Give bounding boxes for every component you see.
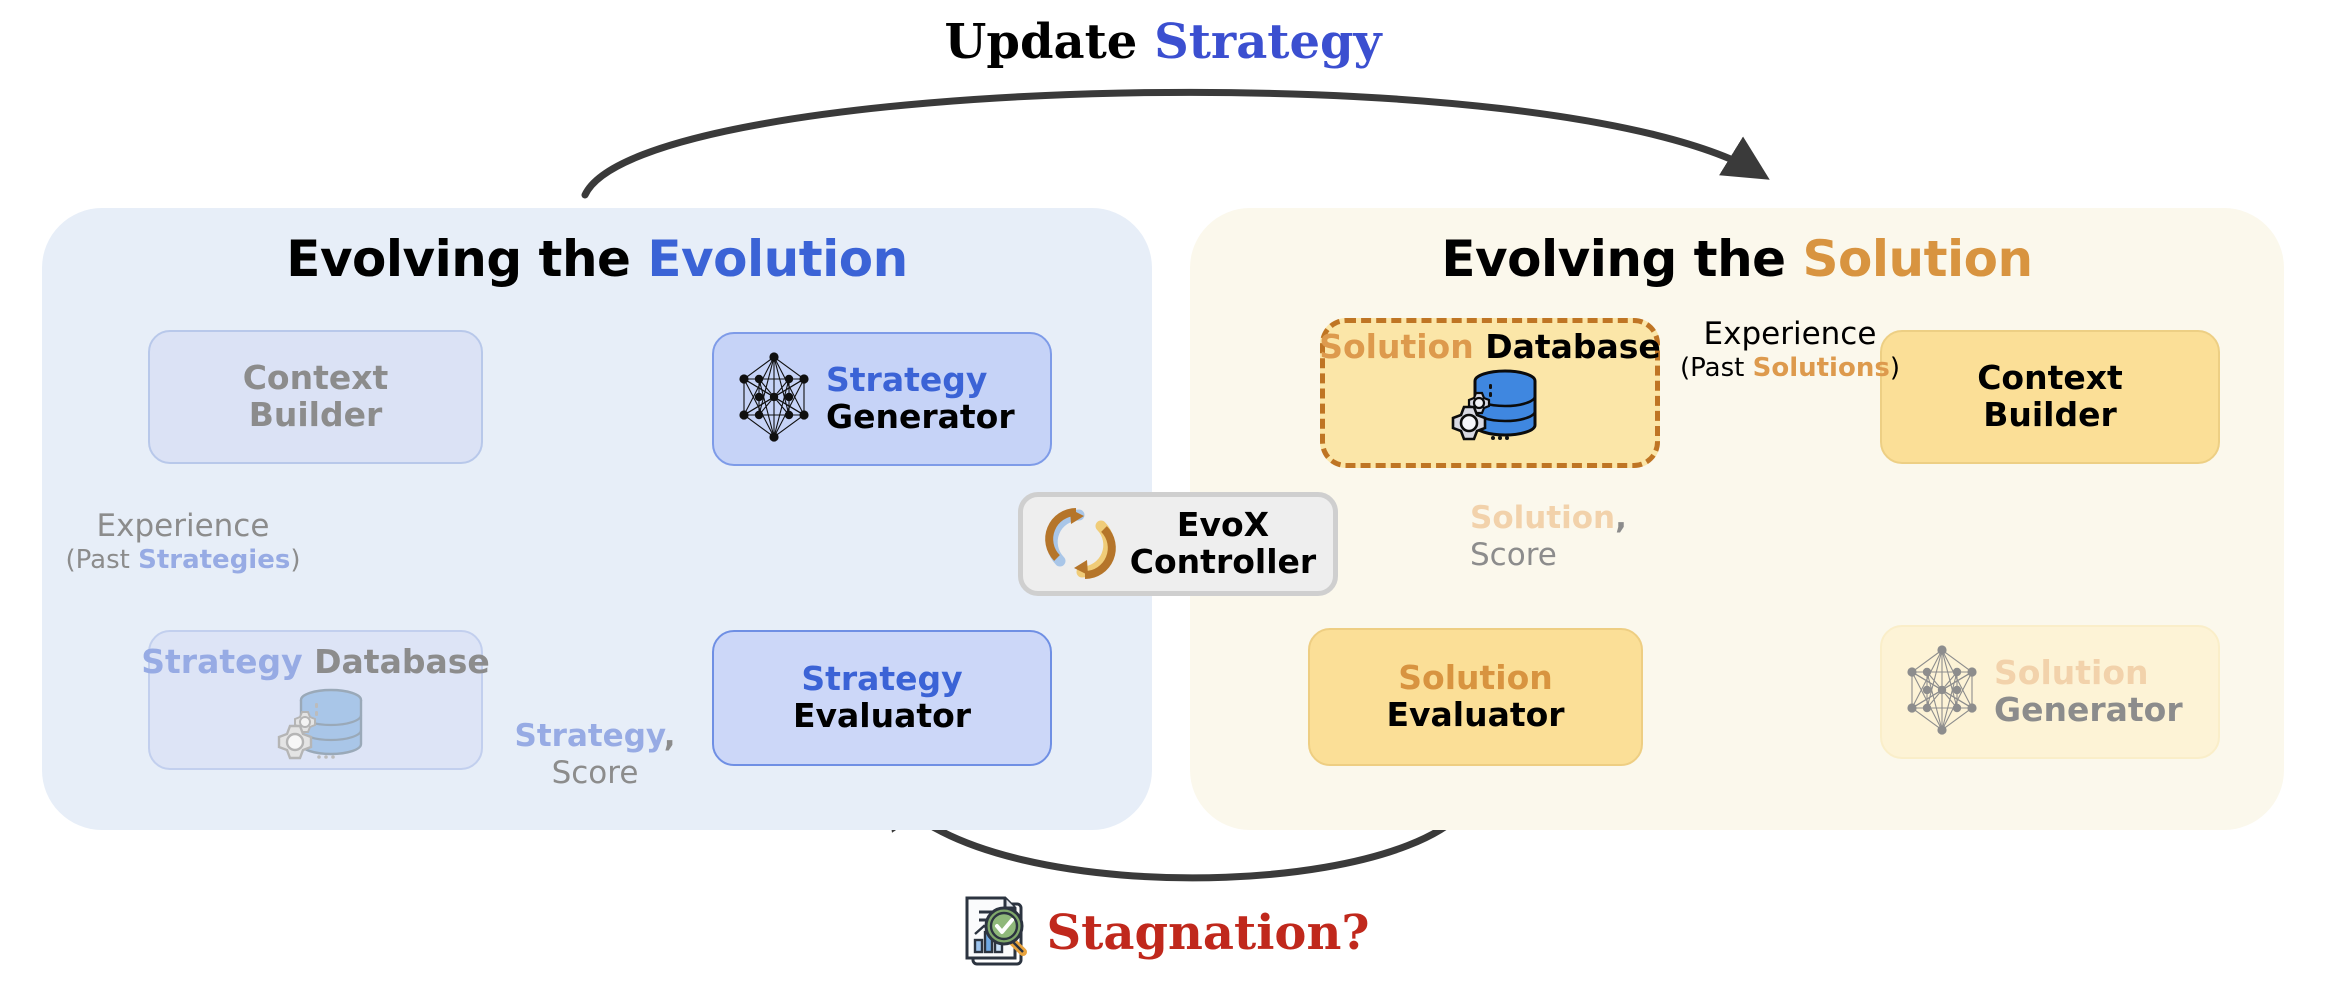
evox-line2: Controller xyxy=(1130,544,1316,581)
stratdb-word1: Strategy xyxy=(141,642,302,681)
node-strategy-evaluator[interactable]: Strategy Evaluator xyxy=(712,630,1052,766)
node-context-builder-left-label: Context Builder xyxy=(243,360,389,434)
strat-score-comma: , xyxy=(664,718,676,754)
solgen-line1: Solution xyxy=(1994,655,2183,692)
ctx-right-line2: Builder xyxy=(1977,397,2123,434)
cycle-refresh-icon xyxy=(1040,503,1118,585)
label-experience-right: Experience (Past Solutions) xyxy=(1660,316,1920,383)
update-strategy-prefix: Update xyxy=(945,14,1155,70)
sol-score-accent: Solution xyxy=(1470,500,1615,536)
node-context-builder-left[interactable]: Context Builder xyxy=(148,330,483,464)
diagram-canvas: Update Strategy Evolving the Evolution C… xyxy=(0,0,2326,996)
report-check-magnifier-icon xyxy=(957,890,1039,976)
strat-score-accent: Strategy xyxy=(515,718,664,754)
evox-controller-label: EvoX Controller xyxy=(1130,507,1316,581)
ctx-right-line1: Context xyxy=(1977,360,2123,397)
node-strategy-generator[interactable]: Strategy Generator xyxy=(712,332,1052,466)
sol-score-comma: , xyxy=(1615,500,1627,536)
strateval-line2: Evaluator xyxy=(793,698,971,735)
stagnation-label: Stagnation? xyxy=(1047,905,1370,961)
evox-controller[interactable]: EvoX Controller xyxy=(1018,492,1338,596)
solgen-line2: Generator xyxy=(1994,692,2183,729)
stratgen-line2: Generator xyxy=(826,399,1015,436)
label-strategy-score: Strategy, Score xyxy=(480,718,710,791)
update-strategy-accent: Strategy xyxy=(1154,14,1381,70)
database-gears-icon xyxy=(253,683,379,765)
stagnation-footer[interactable]: Stagnation? xyxy=(0,890,2326,976)
soleval-line2: Evaluator xyxy=(1386,697,1564,734)
strateval-line1: Strategy xyxy=(793,661,971,698)
soldb-word1: Solution xyxy=(1319,327,1474,366)
label-solution-score: Solution, Score xyxy=(1470,500,1700,573)
arrow-update-strategy xyxy=(585,92,1762,195)
exp-left-sub-prefix: (Past xyxy=(66,545,139,575)
node-context-builder-right[interactable]: Context Builder xyxy=(1880,330,2220,464)
exp-left-line1: Experience xyxy=(97,508,270,544)
exp-left-sub-accent: Strategies xyxy=(138,545,290,575)
node-solution-generator-label: Solution Generator xyxy=(1994,655,2183,729)
update-strategy-title: Update Strategy xyxy=(0,14,2326,70)
ctx-left-line2: Builder xyxy=(243,397,389,434)
panel-right-title-accent: Solution xyxy=(1802,230,2032,288)
label-experience-left: Experience (Past Strategies) xyxy=(18,508,348,575)
exp-right-sub: (Past Solutions) xyxy=(1660,353,1920,384)
panel-left-title: Evolving the Evolution xyxy=(42,230,1152,288)
exp-right-sub-accent: Solutions xyxy=(1753,353,1890,383)
strat-score-plain: Score xyxy=(480,755,710,792)
exp-right-sub-prefix: (Past xyxy=(1680,353,1753,383)
node-strategy-database-label: Strategy Database xyxy=(141,644,489,681)
stratgen-line1: Strategy xyxy=(826,362,1015,399)
soleval-line1: Solution xyxy=(1386,660,1564,697)
panel-right-title-prefix: Evolving the xyxy=(1441,230,1802,288)
node-solution-evaluator[interactable]: Solution Evaluator xyxy=(1308,628,1643,766)
soldb-word2: Database xyxy=(1474,327,1661,366)
ctx-left-line1: Context xyxy=(243,360,389,397)
sol-score-plain: Score xyxy=(1470,537,1700,574)
database-gears-icon xyxy=(1427,364,1553,446)
stratdb-word2: Database xyxy=(303,642,490,681)
panel-left-title-prefix: Evolving the xyxy=(286,230,647,288)
evox-line1: EvoX xyxy=(1130,507,1316,544)
panel-right-title: Evolving the Solution xyxy=(1190,230,2284,288)
panel-left-title-accent: Evolution xyxy=(647,230,907,288)
neural-network-icon xyxy=(1900,642,1984,742)
exp-left-sub-suffix: ) xyxy=(290,545,300,575)
neural-network-icon xyxy=(732,349,816,449)
node-strategy-database[interactable]: Strategy Database xyxy=(148,630,483,770)
exp-right-sub-suffix: ) xyxy=(1890,353,1900,383)
exp-right-line1: Experience xyxy=(1704,316,1877,352)
node-strategy-generator-label: Strategy Generator xyxy=(826,362,1015,436)
node-context-builder-right-label: Context Builder xyxy=(1977,360,2123,434)
node-solution-database[interactable]: Solution Database xyxy=(1320,318,1660,468)
node-solution-database-label: Solution Database xyxy=(1319,329,1661,366)
node-solution-evaluator-label: Solution Evaluator xyxy=(1386,660,1564,734)
node-solution-generator[interactable]: Solution Generator xyxy=(1880,625,2220,759)
node-strategy-evaluator-label: Strategy Evaluator xyxy=(793,661,971,735)
exp-left-sub: (Past Strategies) xyxy=(18,545,348,576)
